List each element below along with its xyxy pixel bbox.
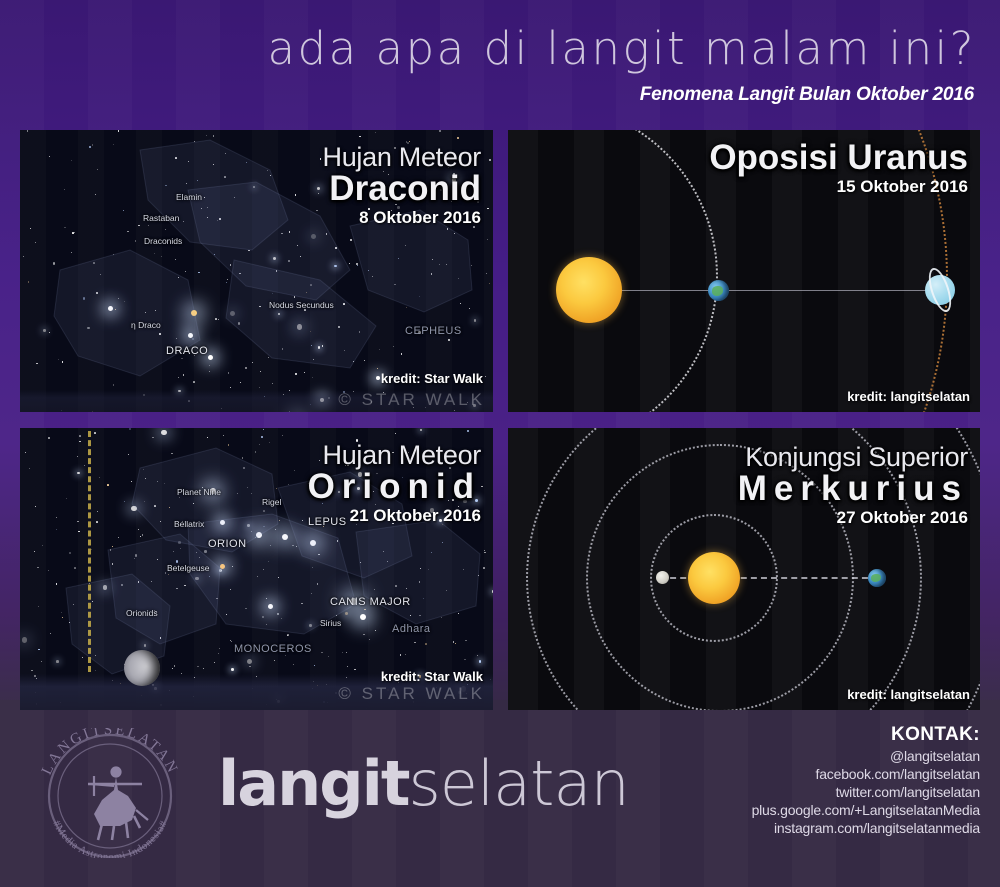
star-label: Rigel bbox=[262, 497, 281, 507]
earth-body bbox=[708, 280, 729, 301]
mercury-body bbox=[656, 571, 669, 584]
header: ada apa di langit malam ini? Fenomena La… bbox=[0, 0, 1000, 128]
star-label: Orionids bbox=[126, 608, 158, 618]
contact-block: KONTAK: @langitselatan facebook.com/lang… bbox=[752, 724, 980, 836]
star-label: η Draco bbox=[131, 320, 161, 330]
sun-body bbox=[688, 552, 740, 604]
panel-credit-draconid: kredit: Star Walk bbox=[381, 371, 483, 386]
starwalk-watermark: © STAR WALK bbox=[338, 390, 485, 410]
langitselatan-logo[interactable]: LANGITSELATAN #Media Astronomi Indonesia… bbox=[24, 728, 196, 858]
contact-title: KONTAK: bbox=[752, 724, 980, 746]
panel-title-line2: Orionid bbox=[308, 469, 481, 505]
panel-credit-orionid: kredit: Star Walk bbox=[381, 669, 483, 684]
panel-mercury[interactable]: Konjungsi Superior Merkurius 27 Oktober … bbox=[508, 428, 980, 710]
uranus-body-group bbox=[920, 270, 960, 310]
panel-credit-uranus: kredit: langitselatan bbox=[847, 389, 970, 404]
panel-credit-mercury: kredit: langitselatan bbox=[847, 687, 970, 702]
star-label: DRACO bbox=[166, 345, 208, 357]
poster-canvas: ada apa di langit malam ini? Fenomena La… bbox=[0, 0, 1000, 887]
star-label: ORION bbox=[208, 538, 247, 550]
starwalk-watermark: © STAR WALK bbox=[338, 684, 485, 704]
star-label: Elamin bbox=[176, 192, 202, 202]
star-label: Planet Nine bbox=[177, 487, 221, 497]
brand-wordmark: langitselatan bbox=[218, 753, 629, 815]
contact-handle[interactable]: @langitselatan bbox=[752, 748, 980, 764]
star-label: Draconids bbox=[144, 236, 182, 246]
star-label: Adhara bbox=[392, 623, 430, 635]
star-label: Bellatrix bbox=[174, 519, 204, 529]
logo-seal-icon: LANGITSELATAN #Media Astronomi Indonesia… bbox=[24, 728, 196, 858]
star-label: MONOCEROS bbox=[234, 643, 312, 655]
panel-draconid[interactable]: ElaminRastabanDraconidsNodus Secundusη D… bbox=[20, 130, 493, 412]
star-label: CANIS MAJOR bbox=[330, 596, 411, 608]
panel-date: 8 Oktober 2016 bbox=[323, 208, 481, 228]
panel-title-mercury: Konjungsi Superior Merkurius 27 Oktober … bbox=[738, 442, 968, 528]
moon-body bbox=[124, 650, 160, 686]
panel-date: 15 Oktober 2016 bbox=[709, 177, 968, 197]
star-label: CEPHEUS bbox=[405, 325, 462, 337]
panel-title-draconid: Hujan Meteor Draconid 8 Oktober 2016 bbox=[323, 142, 481, 228]
contact-facebook[interactable]: facebook.com/langitselatan bbox=[752, 766, 980, 782]
star-label: Rastaban bbox=[143, 213, 179, 223]
contact-googleplus[interactable]: plus.google.com/+LangitselatanMedia bbox=[752, 802, 980, 818]
panel-title-line2: Merkurius bbox=[738, 471, 968, 507]
star-label: Nodus Secundus bbox=[269, 300, 334, 310]
earth-body bbox=[868, 569, 886, 587]
panel-title-uranus: Oposisi Uranus 15 Oktober 2016 bbox=[709, 142, 968, 197]
sun-body bbox=[556, 257, 622, 323]
panel-date: 27 Oktober 2016 bbox=[738, 508, 968, 528]
panel-title-line2: Oposisi Uranus bbox=[709, 140, 968, 176]
svg-text:LANGITSELATAN: LANGITSELATAN bbox=[39, 728, 181, 777]
panel-title-orionid: Hujan Meteor Orionid 21 Oktober 2016 bbox=[308, 440, 481, 526]
panel-date: 21 Oktober 2016 bbox=[308, 506, 481, 526]
panel-orionid[interactable]: Planet NineRigelBellatrixLEPUSORIONBetel… bbox=[20, 428, 493, 710]
page-subtitle: Fenomena Langit Bulan Oktober 2016 bbox=[640, 84, 974, 106]
brand-light: selatan bbox=[409, 747, 629, 820]
panel-title-line2: Draconid bbox=[323, 171, 481, 207]
star-label: Betelgeuse bbox=[167, 563, 210, 573]
star-label: Sirius bbox=[320, 618, 341, 628]
brand-bold: langit bbox=[218, 747, 409, 820]
panel-uranus[interactable]: Oposisi Uranus 15 Oktober 2016 kredit: l… bbox=[508, 130, 980, 412]
opposition-sightline bbox=[596, 290, 938, 291]
sagittarius-archer-glyph bbox=[88, 767, 148, 840]
contact-instagram[interactable]: instagram.com/langitselatanmedia bbox=[752, 820, 980, 836]
page-title: ada apa di langit malam ini? bbox=[267, 22, 976, 75]
ecliptic-line bbox=[88, 428, 91, 672]
contact-twitter[interactable]: twitter.com/langitselatan bbox=[752, 784, 980, 800]
